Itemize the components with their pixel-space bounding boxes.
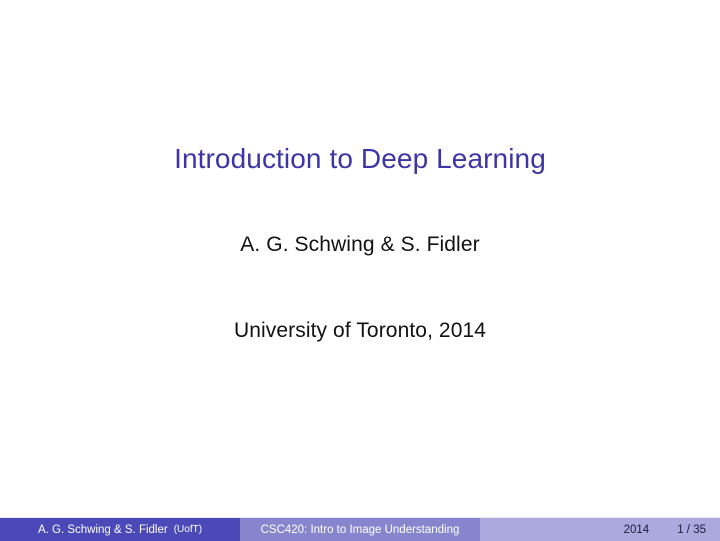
page-title: Introduction to Deep Learning: [0, 143, 720, 175]
footer-page-number: 1 / 35: [677, 524, 706, 536]
institute-block: University of Toronto, 2014: [0, 319, 720, 343]
footer-course-title: CSC420: Intro to Image Understanding: [261, 524, 460, 536]
footer-author-name: A. G. Schwing & S. Fidler: [38, 524, 168, 536]
footer-date: 2014: [624, 524, 650, 536]
presentation-slide: Introduction to Deep Learning A. G. Schw…: [0, 0, 720, 541]
footer-institute-abbrev: (UofT): [174, 524, 202, 535]
author-names: A. G. Schwing & S. Fidler: [0, 233, 720, 257]
title-block: Introduction to Deep Learning: [0, 143, 720, 175]
author-block: A. G. Schwing & S. Fidler: [0, 233, 720, 257]
institute-line: University of Toronto, 2014: [0, 319, 720, 343]
footer-author-segment: A. G. Schwing & S. Fidler (UofT): [0, 518, 240, 541]
footer-course-segment: CSC420: Intro to Image Understanding: [240, 518, 480, 541]
footer-meta-segment: 2014 1 / 35: [480, 518, 720, 541]
footer-bar: A. G. Schwing & S. Fidler (UofT) CSC420:…: [0, 517, 720, 541]
